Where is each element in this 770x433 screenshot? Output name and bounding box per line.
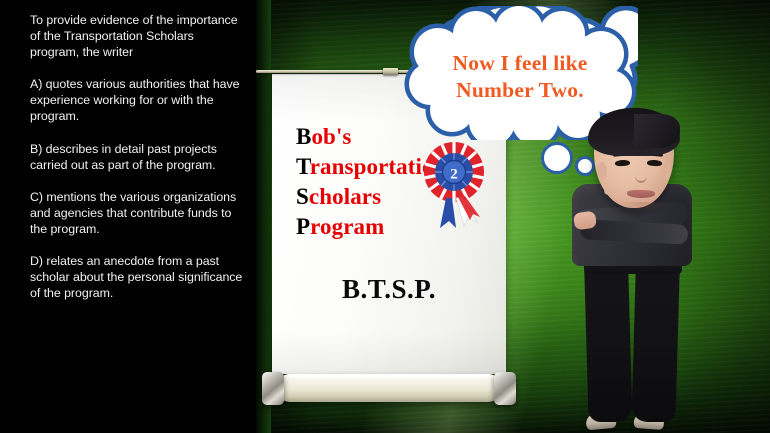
headline-initial-t: T (296, 154, 310, 179)
award-place-number: 2 (450, 167, 458, 183)
chin-shadow (618, 202, 664, 212)
banner-base-tube (276, 374, 502, 402)
slide-canvas: Bob's Transportation Scholars Program B.… (0, 0, 770, 433)
answer-option-b[interactable]: B) describes in detail past projects car… (30, 141, 246, 173)
banner-acronym: B.T.S.P. (272, 274, 506, 305)
ear-left (597, 162, 607, 180)
thought-bubble-text: Now I feel like Number Two. (402, 50, 638, 104)
headline-rest-1: ob's (311, 124, 351, 149)
banner-base-cap-left (262, 372, 284, 405)
legs (580, 240, 684, 430)
banner-rail-clamp (383, 68, 398, 75)
eye-right (647, 160, 662, 167)
headline-rest-4: rogram (310, 214, 384, 239)
hair (588, 108, 680, 156)
second-place-award-ribbon: 2 (418, 140, 490, 230)
ear-right (661, 162, 671, 180)
question-text-block: To provide evidence of the importance of… (30, 12, 246, 301)
question-panel: To provide evidence of the importance of… (0, 0, 256, 433)
thought-line-2: Number Two. (402, 77, 638, 104)
thought-line-1: Now I feel like (402, 50, 638, 77)
answer-option-c[interactable]: C) mentions the various organizations an… (30, 189, 246, 237)
banner-base-cap-right (494, 372, 516, 405)
headline-initial-b: B (296, 124, 311, 149)
headline-rest-3: cholars (309, 184, 381, 209)
banner-base-cassette (262, 372, 516, 406)
eye-left (615, 160, 630, 167)
question-stem: To provide evidence of the importance of… (30, 12, 246, 60)
headline-initial-p: P (296, 214, 310, 239)
answer-option-a[interactable]: A) quotes various authorities that have … (30, 76, 246, 124)
backdrop-left-shadow-strip (255, 0, 271, 433)
head (588, 108, 680, 212)
answer-option-d[interactable]: D) relates an anecdote from a past schol… (30, 253, 246, 301)
nose (635, 168, 647, 183)
headline-initial-s: S (296, 184, 309, 209)
mouth-frown (627, 190, 655, 198)
person-caricature (560, 108, 706, 433)
